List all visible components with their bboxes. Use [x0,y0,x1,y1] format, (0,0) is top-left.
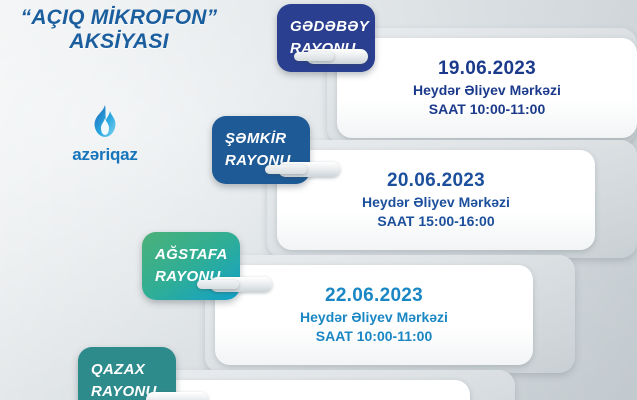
event-time-3: SAAT 10:00-11:00 [316,327,432,346]
azeriqaz-logo: azəriqaz [55,104,155,165]
district-badge-4-line1: QAZAX [91,359,176,381]
event-date-3: 22.06.2023 [325,284,423,308]
headline-line-1: “AÇIQ MİKROFON” [21,6,218,29]
event-venue-1: Heydər Əliyev Mərkəzi [413,81,561,100]
poster-canvas: “AÇIQ MİKROFON” AKSİYASI azəriqaz [0,0,637,400]
headline-line-2: AKSİYASI [0,30,238,54]
connector-plug-4 [146,392,208,400]
logo-wordmark: azəriqaz [55,145,155,165]
event-card-1[interactable]: 19.06.2023 Heydər Əliyev Mərkəzi SAAT 10… [337,38,637,138]
district-badge-1-line1: GƏDƏBƏY [290,16,375,38]
event-time-2: SAAT 15:00-16:00 [377,212,494,231]
connector-pin-2 [265,165,307,174]
district-badge-3-line1: AĞSTAFA [155,244,240,266]
event-venue-3: Heydər Əliyev Mərkəzi [300,308,448,327]
event-date-2: 20.06.2023 [387,169,485,193]
page-title: “AÇIQ MİKROFON” AKSİYASI [0,6,238,53]
district-badge-2-line1: ŞƏMKİR [225,128,310,150]
connector-pin-3 [197,280,239,289]
flame-icon [55,104,155,143]
event-date-1: 19.06.2023 [438,57,536,81]
connector-pin-1 [294,52,334,61]
event-venue-2: Heydər Əliyev Mərkəzi [362,193,510,212]
event-time-1: SAAT 10:00-11:00 [429,100,545,119]
